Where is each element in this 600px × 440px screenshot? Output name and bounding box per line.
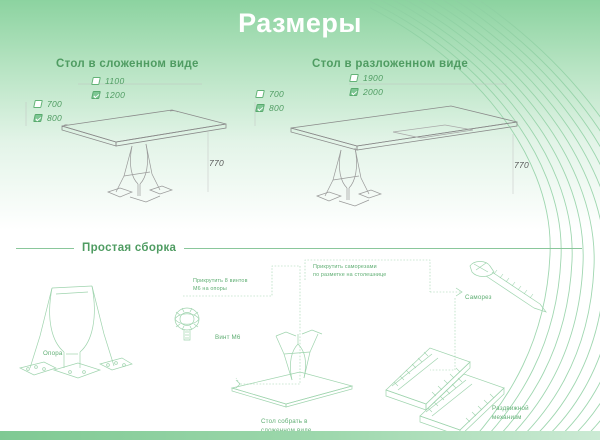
checkbox-checked-icon[interactable]: [33, 114, 43, 122]
label-mechanism: Раздвижной механизм: [492, 404, 529, 423]
folded-height-dimension: 770: [209, 158, 224, 168]
section-heading-unfolded: Стол в разложенном виде: [312, 58, 468, 70]
option-label: 1900: [363, 73, 383, 83]
checkbox-checked-icon[interactable]: [255, 104, 265, 112]
screw-part-drawing: [470, 262, 546, 313]
option-label: 800: [269, 103, 284, 113]
unfolded-length-options[interactable]: 1900 2000: [350, 72, 383, 100]
divider-line-right: [184, 248, 582, 249]
option-row[interactable]: 700: [256, 88, 284, 100]
poster-page: Размеры Стол в сложенном виде 1100 1200 …: [0, 0, 600, 440]
folded-width-options[interactable]: 700 800: [34, 98, 62, 126]
support-part-drawing: [20, 286, 132, 378]
note-bolts: Прикрутить 8 винтов М6 на опоры: [193, 277, 248, 293]
unfolded-width-options[interactable]: 700 800: [256, 88, 284, 116]
option-row[interactable]: 800: [34, 112, 62, 124]
bolt-part-drawing: [175, 308, 199, 340]
option-label: 800: [47, 113, 62, 123]
option-label: 1200: [105, 90, 125, 100]
option-row[interactable]: 700: [34, 98, 62, 110]
checkbox-unchecked-icon[interactable]: [91, 77, 101, 85]
label-bolt: Винт М6: [215, 333, 241, 342]
option-label: 700: [47, 99, 62, 109]
option-row[interactable]: 1900: [350, 72, 383, 84]
label-screw: Саморез: [465, 293, 492, 302]
option-row[interactable]: 800: [256, 102, 284, 114]
checkbox-checked-icon[interactable]: [91, 91, 101, 99]
checkbox-checked-icon[interactable]: [349, 88, 359, 96]
checkbox-unchecked-icon[interactable]: [33, 100, 43, 108]
option-label: 1100: [105, 76, 124, 86]
divider-line-left: [16, 248, 74, 249]
label-support: Опора: [43, 349, 63, 358]
checkbox-unchecked-icon[interactable]: [255, 90, 265, 98]
option-label: 2000: [363, 87, 383, 97]
folded-length-options[interactable]: 1100 1200: [92, 75, 125, 103]
bottom-accent-bar: [0, 431, 600, 440]
checkbox-unchecked-icon[interactable]: [349, 74, 359, 82]
option-row[interactable]: 1100: [92, 75, 125, 87]
unfolded-height-dimension: 770: [514, 160, 529, 170]
option-label: 700: [269, 89, 284, 99]
unfolded-table-drawing: [245, 72, 525, 212]
assembled-table-drawing: [232, 330, 352, 407]
mechanism-part-drawing: [386, 348, 504, 436]
option-row[interactable]: 2000: [350, 86, 383, 98]
page-title: Размеры: [0, 8, 600, 39]
note-screws: Прикрутить саморезами по разметке на сто…: [313, 263, 386, 279]
section-heading-folded: Стол в сложенном виде: [56, 58, 199, 70]
option-row[interactable]: 1200: [92, 89, 125, 101]
